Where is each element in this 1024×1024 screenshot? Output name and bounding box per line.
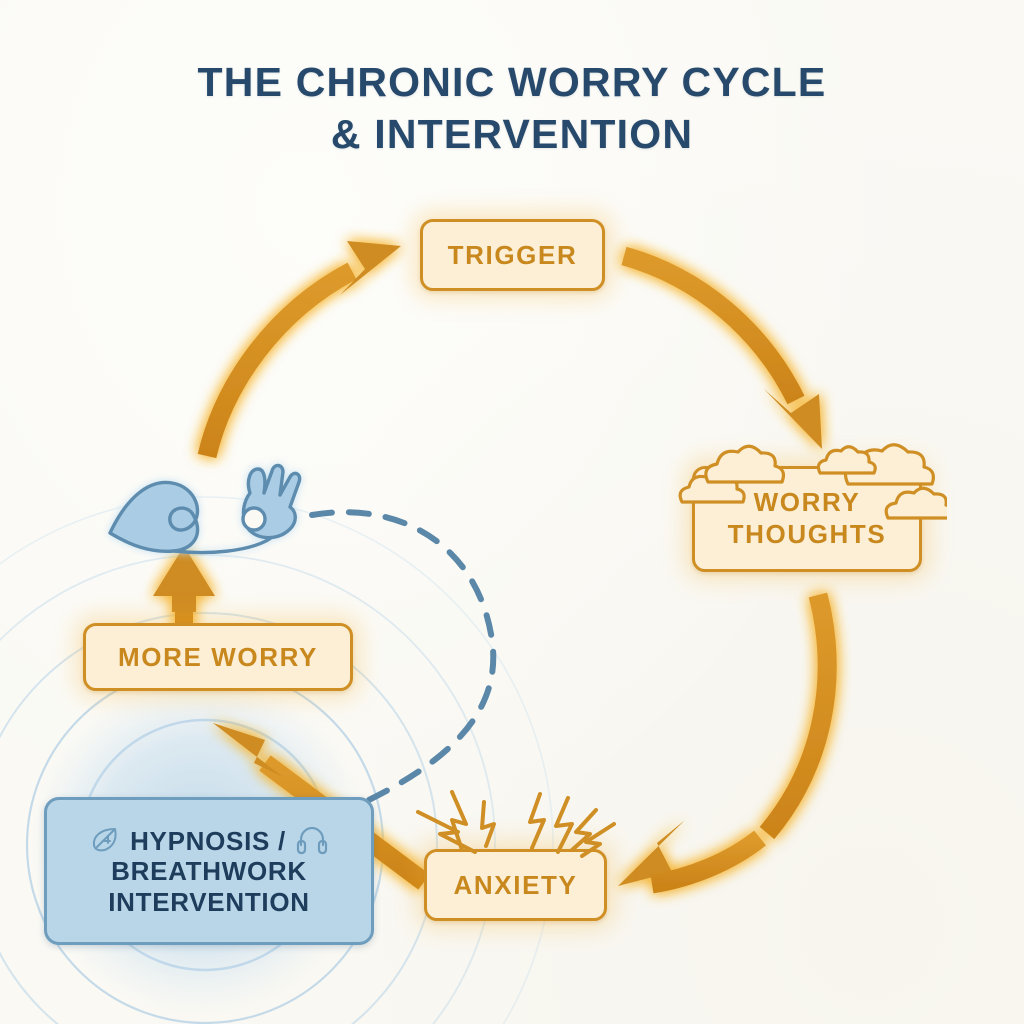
diagram-canvas: THE CHRONIC WORRY CYCLE & INTERVENTION xyxy=(0,0,1024,1024)
node-intervention[interactable]: HYPNOSIS / BREATHWORK INTERVENTION xyxy=(44,797,374,945)
page-title: THE CHRONIC WORRY CYCLE & INTERVENTION xyxy=(0,56,1024,161)
worry-thoughts-line-2: THOUGHTS xyxy=(728,519,887,549)
node-intervention-label: HYPNOSIS / BREATHWORK INTERVENTION xyxy=(76,825,342,917)
node-more-worry-label: MORE WORRY xyxy=(118,642,318,673)
title-line-2: & INTERVENTION xyxy=(0,108,1024,160)
intervention-text-1: HYPNOSIS / xyxy=(130,826,286,856)
node-more-worry[interactable]: MORE WORRY xyxy=(83,623,353,691)
node-anxiety-label: ANXIETY xyxy=(454,870,578,901)
intervention-line-2: BREATHWORK xyxy=(88,856,330,886)
title-line-1: THE CHRONIC WORRY CYCLE xyxy=(0,56,1024,108)
node-anxiety[interactable]: ANXIETY xyxy=(424,849,607,921)
node-worry-thoughts[interactable]: WORRY THOUGHTS xyxy=(692,466,922,572)
intervention-line-1: HYPNOSIS / xyxy=(88,825,330,856)
node-worry-thoughts-label: WORRY THOUGHTS xyxy=(728,487,887,550)
intervention-line-3: INTERVENTION xyxy=(88,887,330,917)
node-trigger[interactable]: TRIGGER xyxy=(420,219,605,291)
headphones-icon xyxy=(296,825,328,855)
leaf-icon xyxy=(90,825,120,855)
node-trigger-label: TRIGGER xyxy=(448,240,578,271)
worry-thoughts-line-1: WORRY xyxy=(754,487,861,517)
